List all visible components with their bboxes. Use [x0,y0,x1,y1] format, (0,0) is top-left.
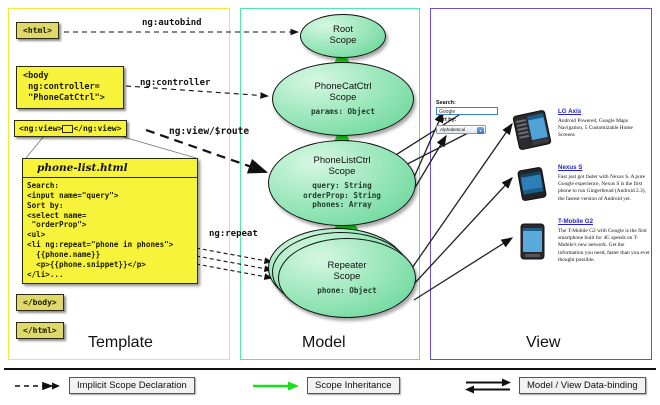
sort-by-select[interactable]: Alphabetical ▾ [436,125,486,134]
label-ng-view-route: ng:view/$route [169,126,249,137]
legend-item-data-binding: Model / View Data-binding [464,377,646,394]
listing-lg-axis: LG Axis Android Powered, Google Maps Nav… [558,108,650,140]
html-open-tag: <html> [16,22,59,39]
legend-item-scope-inheritance: Scope Inheritance [252,377,400,394]
ng-view-slot-icon [62,125,73,133]
body-open-tag: <body ng:controller= "PhoneCatCtrl"> [16,66,124,109]
body-close-tag: </body> [16,294,64,311]
search-label: Search: [436,100,502,106]
legend-label-data-binding: Model / View Data-binding [519,377,646,394]
sort-by-label: Sort by: [436,117,502,123]
scope-phonelistctrl: PhoneListCtrl Scope query: String orderP… [268,140,416,226]
green-arrow-icon [252,380,300,392]
scope-root-name: Root Scope [330,25,357,47]
phone-thumbnail-tmobile-g2 [516,222,548,262]
ng-view-close-tag: </ng:view> [73,124,121,133]
scope-phonecatctrl-name: PhoneCatCtrl Scope [314,82,371,104]
listing-nexus-s: Nexus S Fast just got faster with Nexus … [558,164,650,203]
phone-list-note: phone-list.html Search: <input name="que… [22,158,198,284]
dashed-arrow-icon [14,380,62,392]
wire-ng-repeat [196,248,272,278]
scope-repeater-name: Repeater Scope [327,261,366,283]
phone-thumbnail-nexus-s [516,166,548,202]
scope-phonelistctrl-name: PhoneListCtrl Scope [313,156,370,178]
ng-view-element: <ng:view></ng:view> [14,120,127,137]
legend-item-implicit-scope: Implicit Scope Declaration [14,377,195,394]
label-ng-controller: ng:controller [140,78,210,88]
listing-title[interactable]: Nexus S [558,164,650,171]
phone-list-note-code: Search: <input name="query"> Sort by: <s… [22,177,198,284]
listing-description: Fast just got faster with Nexus S. A pur… [558,174,650,203]
sort-by-value: Alphabetical [440,127,465,132]
label-ng-autobind: ng:autobind [142,18,202,28]
scope-phonelistctrl-props: query: String orderProp: String phones: … [303,181,381,209]
ng-view-open-tag: <ng:view> [19,124,62,133]
listing-description: Android Powered, Google Maps Navigation,… [558,118,650,140]
legend: Implicit Scope Declaration Scope Inherit… [0,368,660,405]
listing-tmobile-g2: T-Mobile G2 The T-Mobile G2 with Google … [558,218,650,264]
double-arrow-icon [464,378,512,394]
search-input[interactable]: Google [436,107,498,115]
phone-thumbnail-lg-axis [512,108,552,152]
scope-repeater: Repeater Scope phone: Object [278,238,416,318]
scope-phonecatctrl: PhoneCatCtrl Scope params: Object [272,62,414,136]
note-leader-lines [26,136,196,158]
chevron-down-icon: ▾ [477,127,484,134]
listing-title[interactable]: LG Axis [558,108,650,115]
scope-repeater-props: phone: Object [317,286,376,295]
listing-title[interactable]: T-Mobile G2 [558,218,650,225]
scope-root: Root Scope [300,14,386,58]
scope-phonecatctrl-props: params: Object [311,107,375,116]
listing-description: The T-Mobile G2 with Google is the first… [558,228,650,264]
diagram-canvas: Template Model View [0,0,660,405]
legend-divider [4,368,656,370]
view-search-form: Search: Google Sort by: Alphabetical ▾ [436,100,502,134]
html-close-tag: </html> [16,322,64,339]
legend-label-implicit-scope: Implicit Scope Declaration [69,377,195,394]
label-ng-repeat: ng:repeat [209,229,258,239]
phone-list-note-title: phone-list.html [22,158,198,177]
legend-label-scope-inheritance: Scope Inheritance [307,377,400,394]
